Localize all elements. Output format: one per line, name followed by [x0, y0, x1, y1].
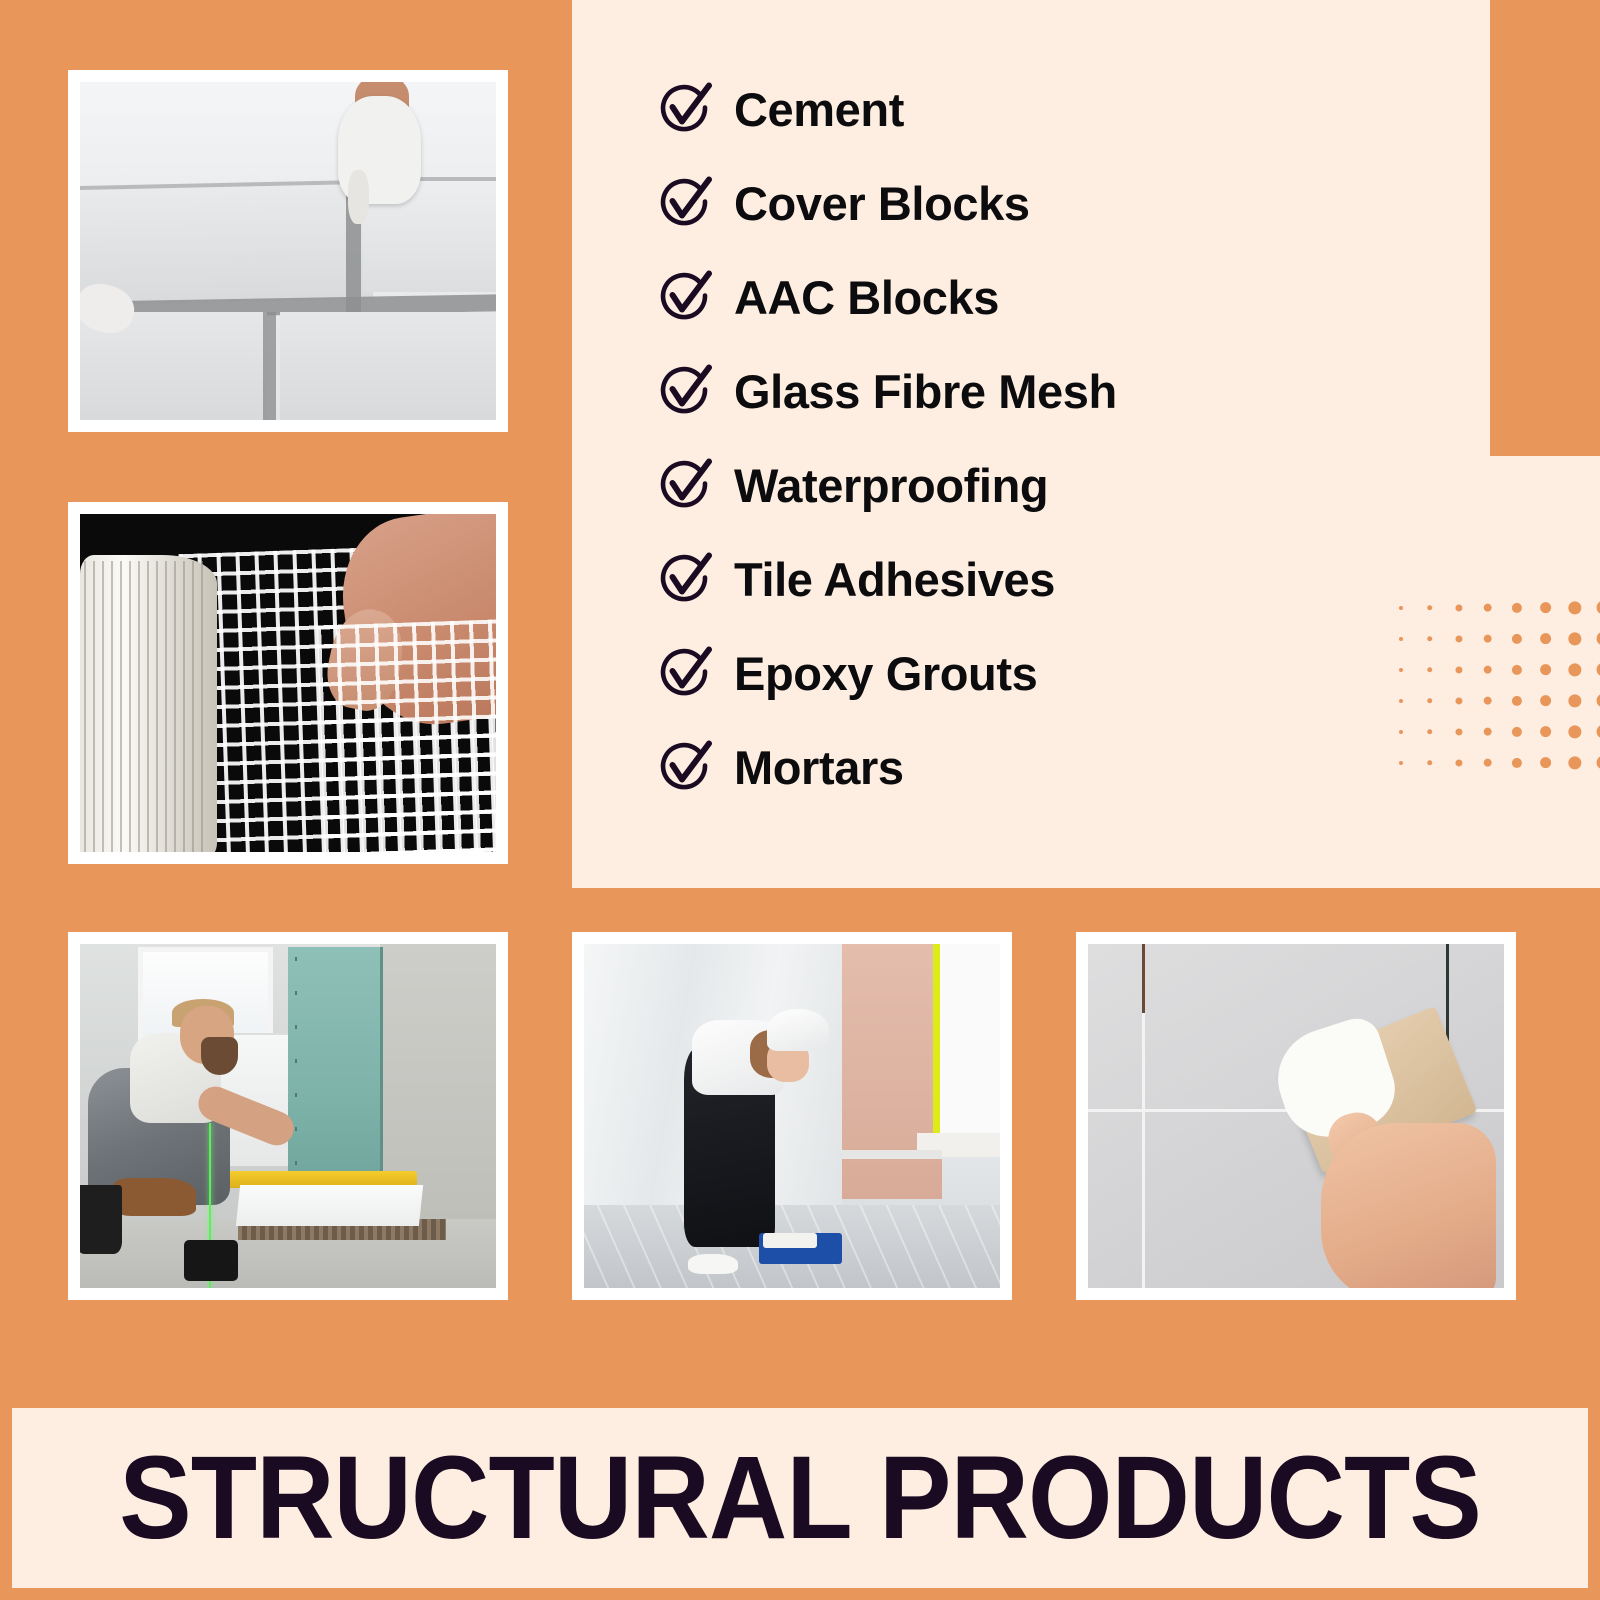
halftone-dot — [1589, 592, 1600, 623]
checklist-item: Epoxy Grouts — [656, 626, 1456, 720]
checklist-item-label: Glass Fibre Mesh — [734, 368, 1117, 415]
check-circle-icon — [656, 175, 712, 231]
waterproofing-image — [584, 944, 1000, 1288]
waterproofing-photo — [572, 932, 1012, 1300]
glass-fibre-mesh-image — [80, 514, 496, 852]
checklist-item: Tile Adhesives — [656, 532, 1456, 626]
epoxy-grout-photo — [1076, 932, 1516, 1300]
halftone-dot — [1589, 747, 1600, 778]
check-circle-icon — [656, 269, 712, 325]
checklist-item-label: Cement — [734, 86, 904, 133]
check-circle-icon — [656, 739, 712, 795]
halftone-dot — [1473, 592, 1502, 623]
halftone-dot — [1589, 716, 1600, 747]
halftone-dot — [1473, 623, 1502, 654]
product-checklist: Cement Cover Blocks AAC Blocks Glass Fib… — [656, 62, 1456, 814]
checklist-item-label: Epoxy Grouts — [734, 650, 1037, 697]
tile-adhesive-photo — [68, 932, 508, 1300]
title-banner: STRUCTURAL PRODUCTS — [12, 1408, 1588, 1588]
halftone-dot — [1560, 654, 1589, 685]
halftone-dot — [1589, 685, 1600, 716]
checklist-item-label: Mortars — [734, 744, 904, 791]
halftone-dot — [1560, 623, 1589, 654]
halftone-dot — [1531, 623, 1560, 654]
glass-fibre-mesh-photo — [68, 502, 508, 864]
poster-canvas: Cement Cover Blocks AAC Blocks Glass Fib… — [0, 0, 1600, 1600]
halftone-dot — [1531, 716, 1560, 747]
halftone-dot — [1589, 623, 1600, 654]
tile-adhesive-image — [80, 944, 496, 1288]
halftone-dot — [1531, 685, 1560, 716]
aac-block-laying-image — [80, 82, 496, 420]
checklist-item: Cover Blocks — [656, 156, 1456, 250]
checklist-item-label: Waterproofing — [734, 462, 1048, 509]
aac-block-laying-photo — [68, 70, 508, 432]
halftone-dot — [1531, 747, 1560, 778]
halftone-dot — [1473, 747, 1502, 778]
check-circle-icon — [656, 81, 712, 137]
halftone-dot — [1473, 654, 1502, 685]
accent-block — [1490, 0, 1600, 456]
halftone-dot — [1560, 685, 1589, 716]
halftone-dot — [1473, 685, 1502, 716]
halftone-dot — [1473, 716, 1502, 747]
halftone-dot — [1531, 654, 1560, 685]
halftone-dot — [1560, 747, 1589, 778]
check-circle-icon — [656, 457, 712, 513]
checklist-item: Glass Fibre Mesh — [656, 344, 1456, 438]
checklist-item: Mortars — [656, 720, 1456, 814]
halftone-dot — [1560, 716, 1589, 747]
checklist-item-label: AAC Blocks — [734, 274, 999, 321]
checklist-item: Cement — [656, 62, 1456, 156]
checklist-item-label: Cover Blocks — [734, 180, 1030, 227]
halftone-dot — [1502, 685, 1531, 716]
checklist-item: AAC Blocks — [656, 250, 1456, 344]
halftone-dot — [1502, 592, 1531, 623]
check-circle-icon — [656, 363, 712, 419]
epoxy-grout-image — [1088, 944, 1504, 1288]
halftone-dot — [1531, 592, 1560, 623]
halftone-dot — [1502, 654, 1531, 685]
check-circle-icon — [656, 551, 712, 607]
halftone-dot — [1502, 716, 1531, 747]
check-circle-icon — [656, 645, 712, 701]
halftone-dot — [1502, 747, 1531, 778]
halftone-dot — [1589, 654, 1600, 685]
halftone-dot — [1502, 623, 1531, 654]
halftone-dot — [1560, 592, 1589, 623]
checklist-item: Waterproofing — [656, 438, 1456, 532]
page-title: STRUCTURAL PRODUCTS — [119, 1439, 1481, 1557]
checklist-item-label: Tile Adhesives — [734, 556, 1055, 603]
